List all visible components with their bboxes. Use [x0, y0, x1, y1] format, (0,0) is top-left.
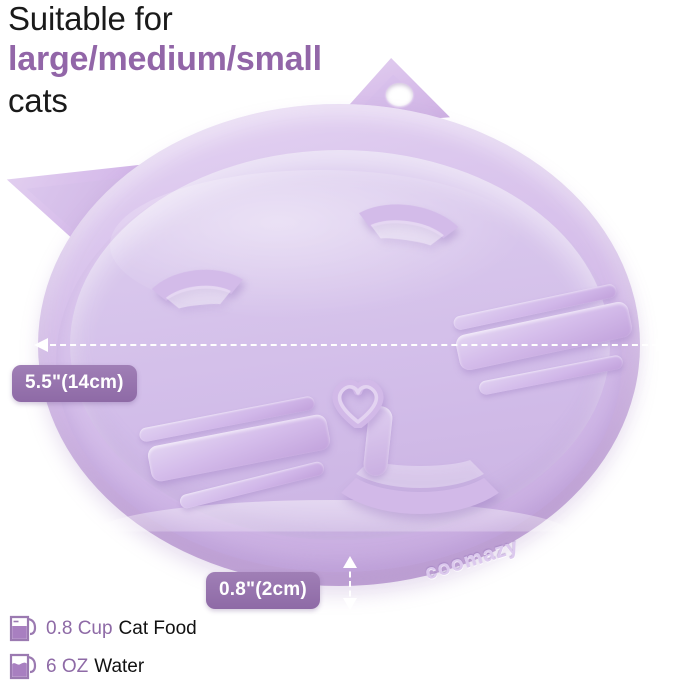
heart-nose-icon [330, 378, 386, 428]
heading-line-2: large/medium/small [8, 39, 428, 80]
legend-label: Cat Food [119, 618, 197, 640]
legend-label: Water [94, 656, 144, 678]
height-arrow-down-icon [343, 598, 357, 610]
width-label-badge: 5.5"(14cm) [12, 365, 137, 402]
legend-amount: 0.8 Cup [46, 618, 113, 640]
height-label-badge: 0.8"(2cm) [206, 572, 320, 609]
heading-line-1: Suitable for [8, 0, 428, 39]
heading-block: Suitable for large/medium/small cats [8, 0, 428, 121]
beaker-icon [8, 653, 38, 681]
legend-item: 6 OZ Water [8, 650, 197, 684]
legend-amount: 6 OZ [46, 656, 88, 678]
height-arrow-up-icon [343, 556, 357, 568]
heading-line-3: cats [8, 80, 428, 121]
width-arrow-left-icon [34, 338, 48, 352]
width-dimension-line [40, 344, 668, 346]
legend-item: 0.8 Cup Cat Food [8, 612, 197, 646]
beaker-icon [8, 615, 38, 643]
arch-eye-left [136, 264, 264, 356]
capacity-legend: 0.8 Cup Cat Food 6 OZ Water [8, 612, 197, 688]
width-arrow-right-icon [656, 338, 670, 352]
